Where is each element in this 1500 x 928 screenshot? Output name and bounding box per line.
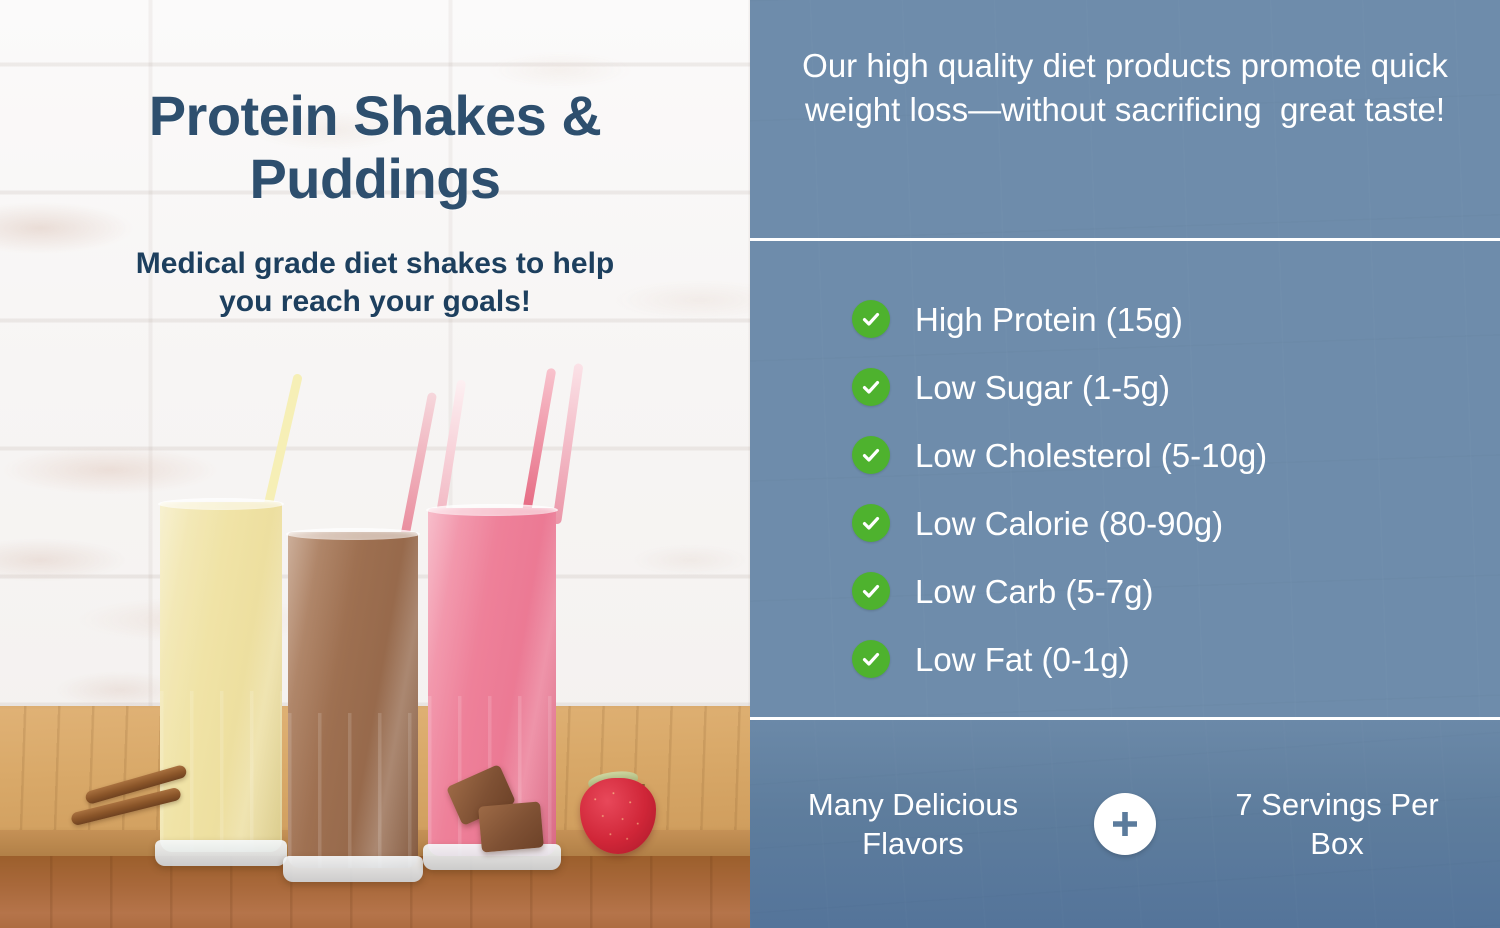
page-subtitle: Medical grade diet shakes to help you re… [0,245,750,322]
check-circle-icon [852,640,890,678]
feature-item-low-cholesterol: Low Cholesterol (5-10g) [852,421,1500,489]
feature-item-low-fat: Low Fat (0-1g) [852,625,1500,693]
left-panel: Protein Shakes & Puddings Medical grade … [0,0,750,928]
left-text-content: Protein Shakes & Puddings Medical grade … [0,0,750,321]
feature-item-high-protein: High Protein (15g) [852,285,1500,353]
glass-gloss [288,532,418,868]
tagline-block: Our high quality diet products promote q… [750,0,1500,238]
servings-text: 7 Servings Per Box [1212,785,1462,863]
feature-label: Low Carb (5-7g) [915,575,1153,608]
feature-label: Low Fat (0-1g) [915,643,1130,676]
glass-rim [158,498,284,510]
chocolate-shake-glass [288,532,418,868]
straw-strawberry-2 [552,363,583,525]
glass-rim [426,504,558,516]
feature-label: High Protein (15g) [915,303,1183,336]
feature-label: Low Cholesterol (5-10g) [915,439,1267,472]
chocolate-chunk-icon [478,801,544,852]
tagline-text: Our high quality diet products promote q… [790,44,1460,132]
flavors-text: Many Delicious Flavors [788,785,1038,863]
check-circle-icon [852,572,890,610]
feature-label: Low Sugar (1-5g) [915,371,1170,404]
feature-item-low-carb: Low Carb (5-7g) [852,557,1500,625]
feature-item-low-sugar: Low Sugar (1-5g) [852,353,1500,421]
protein-shake-glasses-photo [0,380,750,928]
glass-rim [286,528,420,540]
bottom-callout: Many Delicious Flavors 7 Servings Per Bo… [750,720,1500,928]
check-circle-icon [852,436,890,474]
glass-base [155,840,287,866]
glass-base [283,856,423,882]
right-panel: Our high quality diet products promote q… [750,0,1500,928]
page-title: Protein Shakes & Puddings [0,84,750,211]
straw-strawberry-1 [520,368,556,525]
check-circle-icon [852,504,890,542]
plus-icon [1094,793,1156,855]
check-circle-icon [852,300,890,338]
feature-label: Low Calorie (80-90g) [915,507,1223,540]
protein-shakes-promo-poster: Protein Shakes & Puddings Medical grade … [0,0,1500,928]
feature-item-low-calorie: Low Calorie (80-90g) [852,489,1500,557]
feature-list: High Protein (15g) Low Sugar (1-5g) Low … [750,241,1500,717]
check-circle-icon [852,368,890,406]
